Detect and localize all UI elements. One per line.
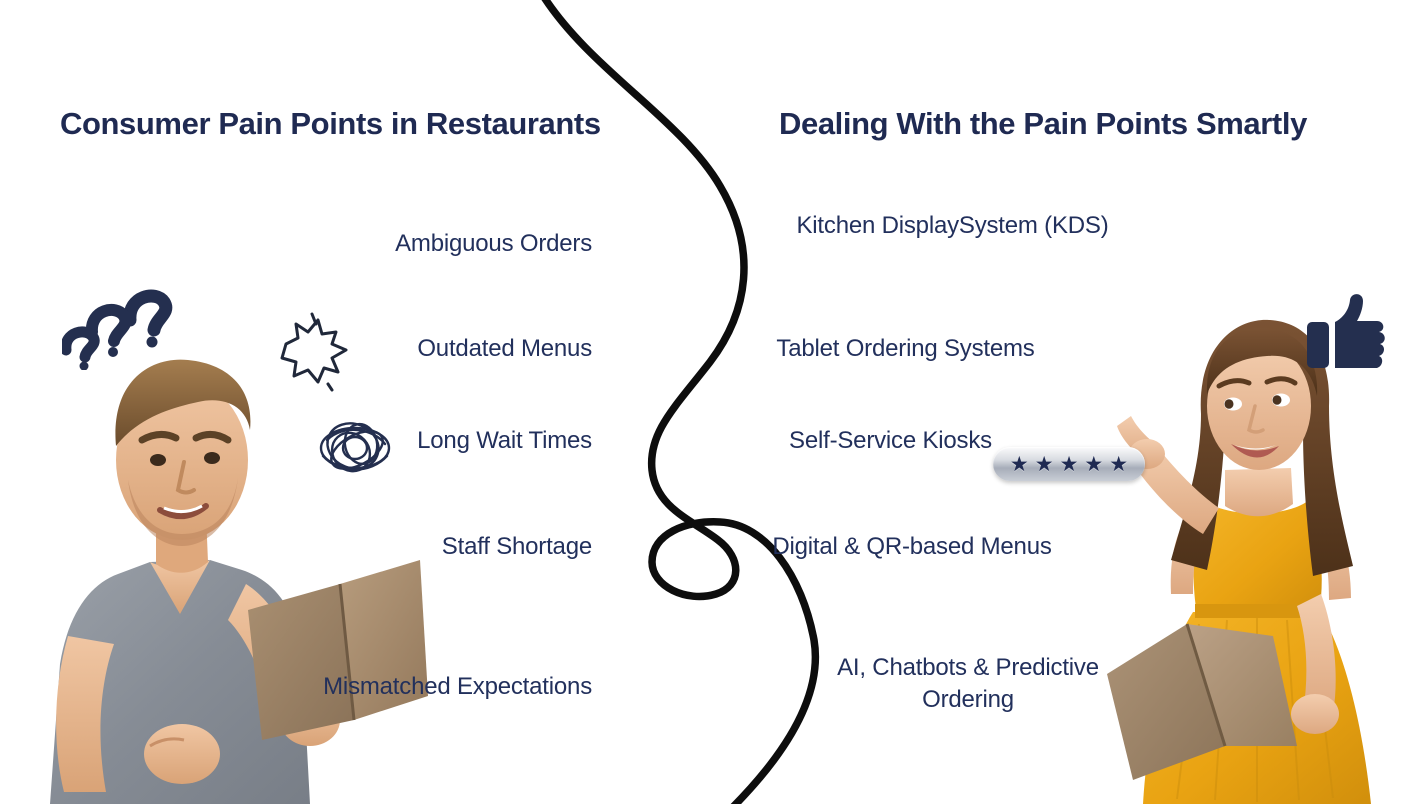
thumb-hand [1335, 294, 1385, 368]
star-icon: ★ [1060, 454, 1079, 475]
list-item: Mismatched Expectations [323, 671, 592, 703]
star-icon: ★ [1010, 454, 1029, 475]
star-icon: ★ [1084, 454, 1103, 475]
thumbs-up-icon [1305, 292, 1387, 370]
star-rating-pill: ★ ★ ★ ★ ★ [993, 447, 1145, 481]
list-item: AI, Chatbots & Predictive Ordering [808, 652, 1128, 715]
star-icon: ★ [1109, 454, 1128, 475]
list-item: Long Wait Times [417, 425, 592, 457]
star-icon: ★ [1035, 454, 1054, 475]
star-rating-badge: ★ ★ ★ ★ ★ [993, 447, 1145, 481]
infographic-canvas: Consumer Pain Points in Restaurants Deal… [0, 0, 1425, 804]
pain-points-list: Ambiguous Orders Outdated Menus Long Wai… [0, 0, 620, 804]
list-item: Digital & QR-based Menus [747, 531, 1077, 563]
list-item: Ambiguous Orders [395, 228, 592, 260]
solutions-list: Kitchen DisplaySystem (KDS) Tablet Order… [740, 0, 1300, 804]
list-item: Staff Shortage [442, 531, 592, 563]
list-item: Tablet Ordering Systems [748, 333, 1063, 365]
thumb-base [1307, 322, 1329, 368]
list-item: Outdated Menus [417, 333, 592, 365]
list-item: Self-Service Kiosks [758, 425, 1023, 457]
list-item: Kitchen DisplaySystem (KDS) [785, 210, 1120, 242]
